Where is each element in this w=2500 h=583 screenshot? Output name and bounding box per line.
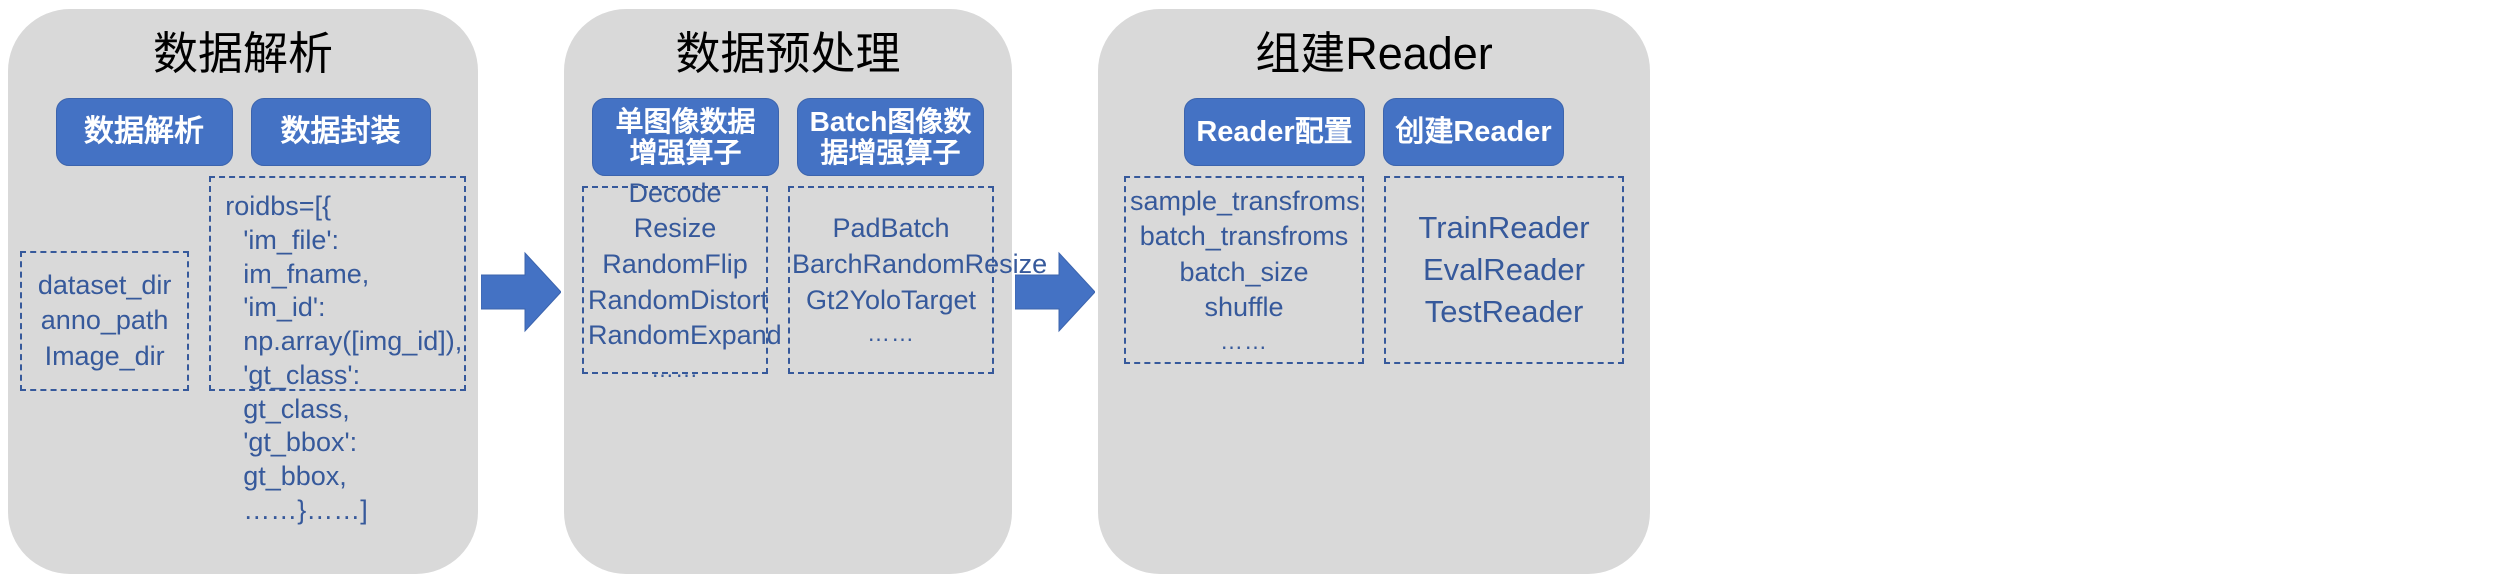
roidbs-line-gt-class: 'gt_class': gt_class, [225, 359, 464, 427]
op-decode: Decode [588, 176, 762, 212]
chip-row-data-parsing: 数据解析 数据封装 [8, 98, 478, 166]
reader-type-train: TrainReader [1390, 207, 1618, 249]
roidbs-line-ellipsis: ……}……] [225, 494, 464, 528]
panel-build-reader: 组建Reader Reader配置 创建Reader sample_transf… [1098, 9, 1650, 574]
reader-field-batch-size: batch_size [1130, 255, 1358, 291]
panel-title-build-reader: 组建Reader [1098, 9, 1650, 76]
dataset-field-image-dir: Image_dir [28, 339, 181, 375]
dataset-field-anno-path: anno_path [28, 303, 181, 339]
box-row-data-parsing: dataset_dir anno_path Image_dir roidbs=[… [8, 166, 478, 391]
dataset-field-dataset-dir: dataset_dir [28, 268, 181, 304]
roidbs-line-declaration: roidbs=[{ [225, 190, 464, 224]
box-batch-image-ops: PadBatch BarchRandomResize Gt2YoloTarget… [788, 186, 994, 374]
chip-reader-config[interactable]: Reader配置 [1184, 98, 1365, 166]
roidbs-line-im-id: 'im_id': np.array([img_id]), [225, 291, 464, 359]
box-reader-config-fields: sample_transfroms batch_transfroms batch… [1124, 176, 1364, 364]
op-gt2yolotarget: Gt2YoloTarget [792, 283, 990, 319]
panel-title-data-preprocess: 数据预处理 [564, 9, 1012, 76]
panel-title-data-parsing: 数据解析 [8, 9, 478, 76]
op-barch-random-resize: BarchRandomResize [792, 247, 990, 283]
chip-row-data-preprocess: 单图像数据 增强算子 Batch图像数 据增强算子 [564, 98, 1012, 176]
op-random-distort: RandomDistort [588, 283, 762, 319]
reader-field-shuffle: shuffle [1130, 290, 1358, 326]
panel-data-parsing: 数据解析 数据解析 数据封装 dataset_dir anno_path Ima… [8, 9, 478, 574]
chip-data-parse[interactable]: 数据解析 [56, 98, 233, 166]
op-pad-batch: PadBatch [792, 211, 990, 247]
reader-field-sample-transfroms: sample_transfroms [1130, 184, 1358, 220]
arrow-parse-to-preprocess [478, 249, 564, 335]
op-list-ellipsis: …… [588, 354, 762, 384]
op-random-flip: RandomFlip [588, 247, 762, 283]
chip-create-reader[interactable]: 创建Reader [1383, 98, 1564, 166]
reader-field-batch-transfroms: batch_transfroms [1130, 219, 1358, 255]
batch-op-list-ellipsis: …… [792, 318, 990, 348]
reader-type-eval: EvalReader [1390, 249, 1618, 291]
box-reader-types: TrainReader EvalReader TestReader [1384, 176, 1624, 364]
box-row-build-reader: sample_transfroms batch_transfroms batch… [1098, 166, 1650, 364]
reader-field-ellipsis: …… [1130, 326, 1358, 356]
pipeline-diagram: 数据解析 数据解析 数据封装 dataset_dir anno_path Ima… [0, 0, 2500, 583]
box-row-data-preprocess: Decode Resize RandomFlip RandomDistort R… [564, 176, 1012, 374]
chip-row-build-reader: Reader配置 创建Reader [1098, 98, 1650, 166]
chip-single-image-aug[interactable]: 单图像数据 增强算子 [592, 98, 779, 176]
roidbs-line-im-file: 'im_file': im_fname, [225, 224, 464, 292]
reader-type-test: TestReader [1390, 291, 1618, 333]
op-random-expand: RandomExpand [588, 318, 762, 354]
chip-batch-image-aug[interactable]: Batch图像数 据增强算子 [797, 98, 984, 176]
box-roidbs: roidbs=[{ 'im_file': im_fname, 'im_id': … [209, 176, 466, 391]
chip-data-package[interactable]: 数据封装 [251, 98, 431, 166]
roidbs-line-gt-bbox: 'gt_bbox': gt_bbox, [225, 426, 464, 494]
box-dataset-fields: dataset_dir anno_path Image_dir [20, 251, 189, 391]
box-single-image-ops: Decode Resize RandomFlip RandomDistort R… [582, 186, 768, 374]
panel-data-preprocess: 数据预处理 单图像数据 增强算子 Batch图像数 据增强算子 Decode R… [564, 9, 1012, 574]
op-resize: Resize [588, 211, 762, 247]
